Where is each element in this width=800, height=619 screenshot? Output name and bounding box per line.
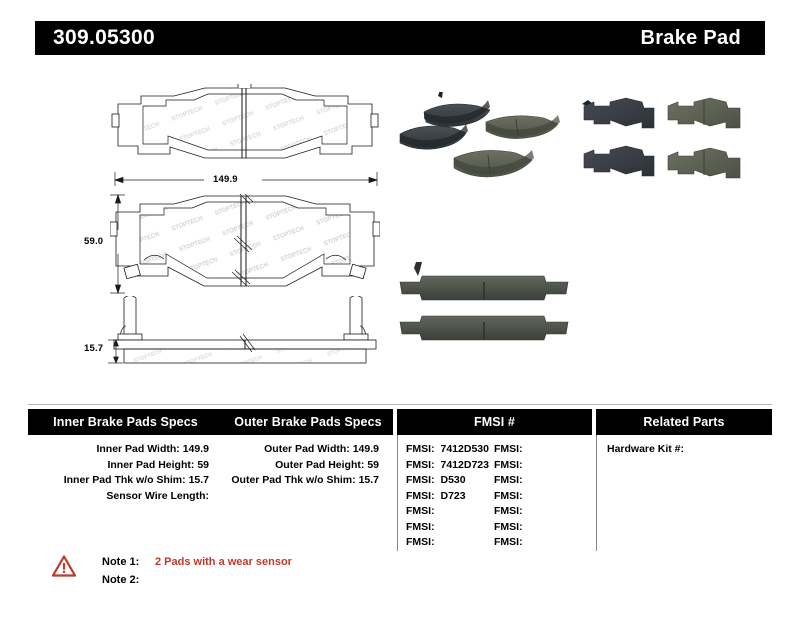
spec-value: 149.9 bbox=[353, 443, 379, 455]
fmsi-label: FMSI: bbox=[406, 474, 435, 486]
cad-edge-profile-view: STOPTECH bbox=[110, 296, 380, 368]
fmsi-row: FMSI: bbox=[406, 504, 494, 520]
fmsi-row: FMSI: bbox=[494, 520, 582, 536]
fmsi-value: 7412D530 bbox=[438, 443, 489, 455]
notes-section: Note 1: 2 Pads with a wear sensor Note 2… bbox=[52, 553, 292, 589]
spec-table-header-row: Inner Brake Pads Specs Outer Brake Pads … bbox=[28, 409, 772, 435]
fmsi-label: FMSI: bbox=[494, 536, 523, 548]
spec-value: 149.9 bbox=[183, 443, 209, 455]
inner-specs-cell: Inner Pad Width: 149.9 Inner Pad Height:… bbox=[28, 435, 223, 551]
fmsi-label: FMSI: bbox=[494, 521, 523, 533]
product-type-label: Brake Pad bbox=[640, 27, 765, 50]
fmsi-label: FMSI: bbox=[406, 459, 435, 471]
spec-row: Sensor Wire Length: bbox=[28, 489, 223, 505]
fmsi-label: FMSI: bbox=[406, 443, 435, 455]
fmsi-row: FMSI: bbox=[494, 458, 582, 474]
related-part-row: Hardware Kit #: bbox=[607, 442, 772, 458]
pad-photo-flat-group bbox=[580, 94, 748, 197]
dim-line-width-top bbox=[112, 172, 380, 188]
fmsi-value bbox=[523, 505, 526, 517]
header-bar: 309.05300 Brake Pad bbox=[35, 21, 765, 55]
fmsi-value bbox=[523, 474, 526, 486]
fmsi-value: D530 bbox=[438, 474, 466, 486]
fmsi-row: FMSI: bbox=[494, 504, 582, 520]
fmsi-value bbox=[523, 490, 526, 502]
note-2-text bbox=[148, 571, 155, 589]
fmsi-row: FMSI: bbox=[494, 473, 582, 489]
fmsi-value: D723 bbox=[438, 490, 466, 502]
outer-specs-cell: Outer Pad Width: 149.9 Outer Pad Height:… bbox=[223, 435, 393, 551]
fmsi-value bbox=[523, 459, 526, 471]
related-parts-cell: Hardware Kit #: bbox=[596, 435, 772, 551]
dim-label-thickness: 15.7 bbox=[84, 343, 103, 354]
spec-label: Inner Pad Height: bbox=[107, 459, 194, 471]
fmsi-label: FMSI: bbox=[406, 536, 435, 548]
fmsi-row: FMSI: D723 bbox=[406, 489, 494, 505]
fmsi-cell: FMSI: 7412D530 FMSI: 7412D723 FMSI: D530… bbox=[397, 435, 592, 551]
fmsi-column-left: FMSI: 7412D530 FMSI: 7412D723 FMSI: D530… bbox=[406, 442, 494, 551]
fmsi-label: FMSI: bbox=[494, 474, 523, 486]
spec-label: Inner Pad Width: bbox=[96, 443, 179, 455]
fmsi-row: FMSI: 7412D723 bbox=[406, 458, 494, 474]
spec-row: Outer Pad Width: 149.9 bbox=[223, 442, 393, 458]
fmsi-label: FMSI: bbox=[494, 443, 523, 455]
fmsi-label: FMSI: bbox=[494, 490, 523, 502]
dim-line-thickness bbox=[108, 338, 124, 366]
pad-photo-edge-pair bbox=[394, 260, 574, 361]
column-header-related-parts: Related Parts bbox=[596, 409, 772, 435]
fmsi-label: FMSI: bbox=[494, 505, 523, 517]
fmsi-row: FMSI: bbox=[406, 535, 494, 551]
fmsi-column-right: FMSI: FMSI: FMSI: FMSI: bbox=[494, 442, 582, 551]
fmsi-label: FMSI: bbox=[406, 505, 435, 517]
fmsi-value bbox=[523, 536, 526, 548]
fmsi-label: FMSI: bbox=[406, 490, 435, 502]
part-number: 309.05300 bbox=[35, 26, 155, 50]
spec-label: Outer Pad Width: bbox=[264, 443, 350, 455]
spec-table: Inner Brake Pads Specs Outer Brake Pads … bbox=[28, 409, 772, 551]
fmsi-value bbox=[435, 521, 438, 533]
fmsi-row: FMSI: bbox=[494, 442, 582, 458]
fmsi-row: FMSI: D530 bbox=[406, 473, 494, 489]
column-header-fmsi: FMSI # bbox=[397, 409, 592, 435]
note-1-label: Note 1: bbox=[102, 553, 148, 571]
cad-top-plan-view: STOPTECH bbox=[110, 84, 380, 166]
fmsi-row: FMSI: bbox=[494, 535, 582, 551]
column-header-outer-specs: Outer Brake Pads Specs bbox=[223, 409, 393, 435]
spec-row: Inner Pad Width: 149.9 bbox=[28, 442, 223, 458]
dim-line-height bbox=[110, 192, 126, 296]
fmsi-label: FMSI: bbox=[494, 459, 523, 471]
spec-value: 59 bbox=[367, 459, 379, 471]
spec-label: Sensor Wire Length: bbox=[106, 490, 209, 502]
spec-row: Inner Pad Thk w/o Shim: 15.7 bbox=[28, 473, 223, 489]
spec-label: Outer Pad Height: bbox=[275, 459, 364, 471]
warning-triangle-icon bbox=[52, 555, 76, 577]
fmsi-value bbox=[435, 505, 438, 517]
note-row-1: Note 1: 2 Pads with a wear sensor bbox=[102, 553, 292, 571]
spec-value: 15.7 bbox=[189, 474, 209, 486]
spec-label: Outer Pad Thk w/o Shim: bbox=[231, 474, 355, 486]
related-part-label: Hardware Kit #: bbox=[607, 443, 684, 455]
spec-label: Inner Pad Thk w/o Shim: bbox=[64, 474, 186, 486]
fmsi-row: FMSI: bbox=[494, 489, 582, 505]
dim-label-height: 59.0 bbox=[84, 236, 103, 247]
spec-row: Inner Pad Height: 59 bbox=[28, 458, 223, 474]
spec-row: Outer Pad Thk w/o Shim: 15.7 bbox=[223, 473, 393, 489]
fmsi-value bbox=[523, 521, 526, 533]
pad-photo-angled-group bbox=[398, 92, 578, 207]
fmsi-label: FMSI: bbox=[406, 521, 435, 533]
fmsi-value: 7412D723 bbox=[438, 459, 489, 471]
spec-value: 15.7 bbox=[359, 474, 379, 486]
note-2-label: Note 2: bbox=[102, 571, 148, 589]
table-top-rule bbox=[28, 404, 772, 405]
fmsi-row: FMSI: 7412D530 bbox=[406, 442, 494, 458]
spec-table-body: Inner Pad Width: 149.9 Inner Pad Height:… bbox=[28, 435, 772, 551]
note-row-2: Note 2: bbox=[102, 571, 292, 589]
fmsi-row: FMSI: bbox=[406, 520, 494, 536]
column-header-inner-specs: Inner Brake Pads Specs bbox=[28, 409, 223, 435]
note-1-text: 2 Pads with a wear sensor bbox=[148, 553, 292, 571]
fmsi-value bbox=[523, 443, 526, 455]
cad-main-plan-view: STOPTECH bbox=[110, 194, 380, 294]
fmsi-value bbox=[435, 536, 438, 548]
spec-value: 59 bbox=[197, 459, 209, 471]
spec-row: Outer Pad Height: 59 bbox=[223, 458, 393, 474]
product-photos-panel bbox=[390, 62, 790, 372]
